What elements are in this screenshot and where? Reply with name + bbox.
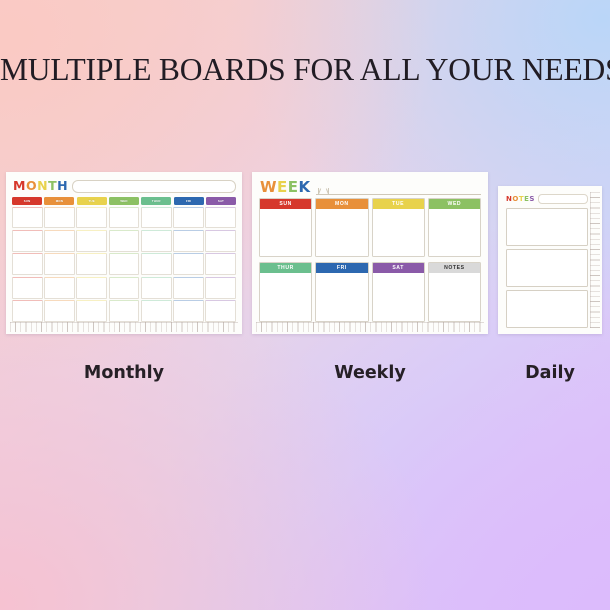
monthly-date-cell[interactable]	[76, 230, 107, 252]
monthly-date-cell[interactable]	[141, 230, 172, 252]
monthly-date-cell[interactable]	[109, 277, 140, 299]
logo-letter: M	[13, 180, 26, 193]
weekly-column-wed[interactable]: WED	[428, 198, 481, 257]
monthly-date-cell[interactable]	[205, 230, 236, 252]
monthly-board[interactable]: MONTH SUNMONTUEWEDTHURFRISAT	[6, 172, 242, 334]
weekly-column-header-thur: THUR	[260, 263, 311, 273]
logo-letter: E	[288, 180, 299, 195]
caption-daily: Daily	[498, 363, 602, 383]
monthly-date-cell[interactable]	[76, 300, 107, 322]
logo-letter: N	[37, 180, 48, 193]
monthly-date-cell[interactable]	[205, 253, 236, 275]
daily-board[interactable]: NOTES	[498, 186, 602, 334]
logo-letter: W	[260, 180, 277, 195]
daily-note-section[interactable]	[506, 249, 588, 287]
logo-letter: S	[529, 196, 535, 203]
weekly-column-mon[interactable]: MON	[315, 198, 368, 257]
monthly-date-cell[interactable]	[12, 300, 43, 322]
monthly-date-cell[interactable]	[12, 230, 43, 252]
monthly-date-cell[interactable]	[205, 277, 236, 299]
weekly-column-header-wed: WED	[429, 199, 480, 209]
daily-board-header: NOTES	[506, 193, 588, 205]
monthly-day-header-fri: FRI	[174, 197, 204, 205]
weekly-column-fri[interactable]: FRI	[315, 262, 368, 322]
weekly-column-tue[interactable]: TUE	[372, 198, 425, 257]
week-header-arrow-icon	[318, 188, 329, 194]
monthly-date-cell[interactable]	[76, 207, 107, 229]
weekly-columns-row-2[interactable]: THURFRISATNOTES	[259, 262, 481, 322]
caption-monthly: Monthly	[6, 363, 242, 383]
monthly-day-header-sat: SAT	[206, 197, 236, 205]
weekly-column-writing-area[interactable]	[260, 209, 311, 256]
weekly-column-sat[interactable]: SAT	[372, 262, 425, 322]
monthly-date-cell[interactable]	[76, 277, 107, 299]
monthly-date-cell[interactable]	[205, 207, 236, 229]
logo-letter: H	[57, 180, 68, 193]
ruler-edge-icon	[256, 322, 484, 332]
monthly-date-cell[interactable]	[44, 253, 75, 275]
month-name-writein-field[interactable]	[72, 180, 236, 193]
monthly-date-cell[interactable]	[109, 253, 140, 275]
daily-note-section[interactable]	[506, 290, 588, 328]
monthly-date-cell[interactable]	[109, 207, 140, 229]
logo-letter: O	[26, 180, 37, 193]
monthly-date-cell[interactable]	[109, 230, 140, 252]
monthly-board-header: MONTH	[13, 178, 236, 194]
weekly-column-sun[interactable]: SUN	[259, 198, 312, 257]
weekly-column-thur[interactable]: THUR	[259, 262, 312, 322]
monthly-date-cell[interactable]	[205, 300, 236, 322]
weekly-column-notes[interactable]: NOTES	[428, 262, 481, 322]
weekly-column-header-sat: SAT	[373, 263, 424, 273]
weekly-column-writing-area[interactable]	[316, 209, 367, 256]
monthly-date-cell[interactable]	[44, 300, 75, 322]
monthly-day-header-mon: MON	[44, 197, 74, 205]
weekly-column-header-notes: NOTES	[429, 263, 480, 273]
daily-note-sections[interactable]	[506, 208, 588, 328]
logo-letter: E	[277, 180, 288, 195]
monthly-day-header-wed: WED	[109, 197, 139, 205]
logo-letter: K	[299, 180, 311, 195]
monthly-date-cell[interactable]	[44, 277, 75, 299]
monthly-date-cell[interactable]	[141, 253, 172, 275]
weekly-column-writing-area[interactable]	[373, 209, 424, 256]
poster-canvas: MULTIPLE BOARDS FOR ALL YOUR NEEDS! MONT…	[0, 0, 610, 610]
weekly-board-header: WEEK	[260, 178, 481, 195]
monthly-date-cell[interactable]	[12, 207, 43, 229]
monthly-date-cell[interactable]	[173, 207, 204, 229]
notes-logo: NOTES	[506, 196, 535, 203]
ruler-edge-icon	[590, 192, 600, 328]
monthly-date-cell[interactable]	[12, 253, 43, 275]
monthly-day-header-row: SUNMONTUEWEDTHURFRISAT	[12, 197, 236, 205]
monthly-day-header-thur: THUR	[141, 197, 171, 205]
monthly-day-header-sun: SUN	[12, 197, 42, 205]
monthly-date-cell[interactable]	[44, 230, 75, 252]
monthly-date-cell[interactable]	[12, 277, 43, 299]
daily-note-section[interactable]	[506, 208, 588, 246]
weekly-columns-row-1[interactable]: SUNMONTUEWED	[259, 198, 481, 257]
monthly-date-grid[interactable]	[12, 207, 236, 323]
weekly-column-header-tue: TUE	[373, 199, 424, 209]
weekly-column-header-mon: MON	[316, 199, 367, 209]
weekly-column-header-sun: SUN	[260, 199, 311, 209]
daily-title-writein-field[interactable]	[538, 194, 588, 204]
month-logo: MONTH	[13, 180, 68, 193]
monthly-date-cell[interactable]	[141, 300, 172, 322]
monthly-date-cell[interactable]	[173, 277, 204, 299]
monthly-date-cell[interactable]	[141, 277, 172, 299]
monthly-date-cell[interactable]	[173, 253, 204, 275]
monthly-date-cell[interactable]	[76, 253, 107, 275]
logo-letter: T	[48, 180, 57, 193]
weekly-column-header-fri: FRI	[316, 263, 367, 273]
ruler-edge-icon	[10, 322, 238, 332]
weekly-column-writing-area[interactable]	[429, 273, 480, 321]
week-logo: WEEK	[260, 180, 311, 195]
weekly-column-writing-area[interactable]	[260, 273, 311, 321]
monthly-date-cell[interactable]	[44, 207, 75, 229]
monthly-date-cell[interactable]	[173, 300, 204, 322]
weekly-board[interactable]: WEEK SUNMONTUEWED THURFRISATNOTES	[252, 172, 488, 334]
weekly-column-writing-area[interactable]	[316, 273, 367, 321]
caption-weekly: Weekly	[252, 363, 488, 383]
monthly-day-header-tue: TUE	[77, 197, 107, 205]
monthly-date-cell[interactable]	[109, 300, 140, 322]
weekly-column-writing-area[interactable]	[429, 209, 480, 256]
page-title: MULTIPLE BOARDS FOR ALL YOUR NEEDS!	[0, 52, 610, 88]
week-header-rule	[316, 186, 481, 195]
monthly-date-cell[interactable]	[141, 207, 172, 229]
weekly-column-writing-area[interactable]	[373, 273, 424, 321]
monthly-date-cell[interactable]	[173, 230, 204, 252]
